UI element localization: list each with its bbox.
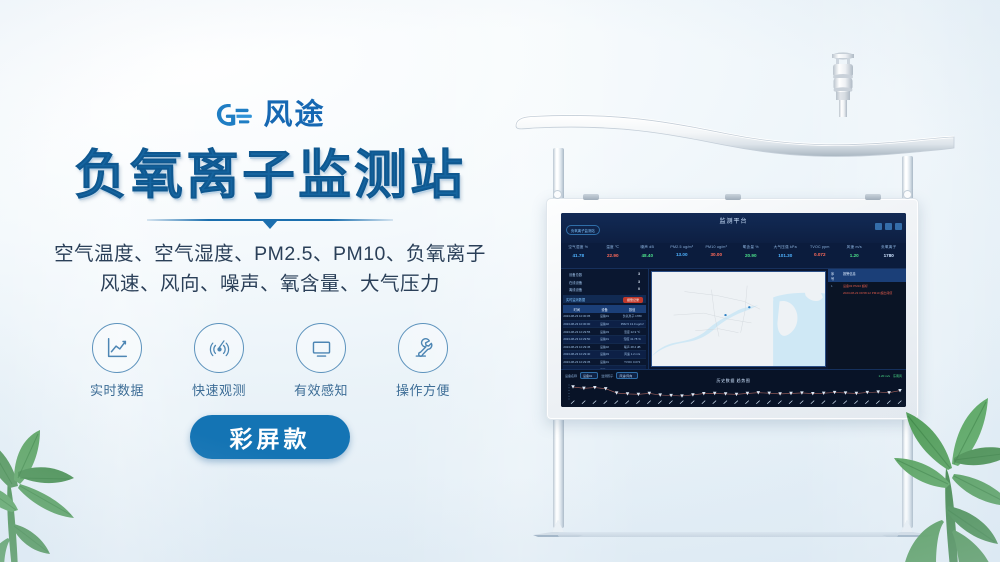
wrench-icon xyxy=(398,323,448,373)
divider-triangle-icon xyxy=(262,220,278,229)
kpi-value: 48.40 xyxy=(630,253,665,258)
device-stats-panel: 设备总数 3 在线设备 3 离线设备 0 实时监测数据 报警记录 xyxy=(561,269,649,369)
mount-ring-right xyxy=(903,190,912,199)
kpi-key: 温度 ℃ xyxy=(596,245,631,250)
kpi-tile: 氧含量 % 20.90 xyxy=(734,243,769,268)
table-cell: 设备03 xyxy=(591,351,619,358)
poster-canvas: 风途 负氧离子监测站 空气温度、空气湿度、PM2.5、PM10、负氧离子 风速、… xyxy=(0,0,1000,562)
kpi-key: 大气压强 kPa xyxy=(768,245,803,250)
monitor-icon xyxy=(296,323,346,373)
kpi-key: TVOC ppm xyxy=(803,245,838,249)
line-chart-icon xyxy=(92,323,142,373)
stat-row: 离线设备 0 xyxy=(563,286,646,293)
alarm-record-button[interactable]: 报警记录 xyxy=(623,297,643,303)
title-divider xyxy=(147,219,393,221)
kpi-key: PM10 ug/m³ xyxy=(699,245,734,249)
sun-icon xyxy=(875,223,882,230)
dashboard-title: 监测平台 xyxy=(561,216,906,225)
page-title: 负氧离子监测站 xyxy=(0,144,540,208)
ground-rail xyxy=(558,532,898,537)
table-row[interactable]: 2023-08-23 10:29:55设备03温度 22.9 ℃ xyxy=(563,328,646,336)
table-cell: 2023-08-23 10:29:55 xyxy=(563,328,591,335)
table-cell: 2023-08-23 10:30:05 xyxy=(563,313,591,320)
stat-key: 离线设备 xyxy=(569,287,582,292)
stat-key: 在线设备 xyxy=(569,280,582,285)
table-cell: 湿度 41.78 % xyxy=(618,336,646,343)
feature-label: 操作方便 xyxy=(385,380,461,399)
feature-item-fast-observation[interactable]: 快速观测 xyxy=(181,323,257,399)
table-header-row: 时间 设备 数值 xyxy=(563,305,646,313)
caption-text: 实时监测数据 xyxy=(566,298,585,302)
alarm-detail: 2023-08-23 09:58:12 PM10 超出阈值 xyxy=(840,289,895,296)
mount-lug-2 xyxy=(725,194,741,200)
subtitle: 空气温度、空气湿度、PM2.5、PM10、负氧离子 风速、风向、噪声、氧含量、大… xyxy=(0,239,540,299)
table-row[interactable]: 2023-08-23 10:29:45设备02噪声 48.4 dB xyxy=(563,344,646,352)
kpi-strip: 空气湿度 % 41.78 温度 ℃ 22.90 噪声 dB 48.40 PM2.… xyxy=(561,243,906,269)
cloud-icon xyxy=(885,223,892,230)
kpi-key: 噪声 dB xyxy=(630,245,665,250)
table-cell: 2023-08-23 10:29:40 xyxy=(563,351,591,358)
wind-trend-chart xyxy=(563,383,904,407)
column-header: 数值 xyxy=(618,305,646,313)
kpi-tile: 空气湿度 % 41.78 xyxy=(561,243,596,268)
mount-ring-left xyxy=(553,190,562,199)
table-cell: 2023-08-23 10:29:45 xyxy=(563,344,591,351)
table-cell: 设备02 xyxy=(591,321,619,328)
kpi-tile: PM2.5 ug/m³ 13.00 xyxy=(665,243,700,268)
table-row[interactable]: 2023-08-23 10:29:35设备01TVOC 0.072 xyxy=(563,359,646,367)
table-cell: 设备03 xyxy=(591,328,619,335)
kpi-tile: 风速 m/s 1.20 xyxy=(837,243,872,268)
kpi-key: 负氧离子 xyxy=(872,245,907,250)
realtime-table-caption: 实时监测数据 报警记录 xyxy=(563,295,646,303)
brand-name: 风途 xyxy=(263,100,325,130)
column-header: 设备 xyxy=(591,305,619,313)
kpi-key: 风速 m/s xyxy=(837,245,872,250)
alarm-row: 1 设备03 PM10 超标 xyxy=(828,282,906,289)
kpi-value: 20.90 xyxy=(734,253,769,258)
feature-label: 快速观测 xyxy=(181,380,257,399)
table-cell: 设备01 xyxy=(591,359,619,366)
radar-sensor-icon xyxy=(194,323,244,373)
brand-logo: 风途 xyxy=(0,96,540,134)
table-cell: TVOC 0.072 xyxy=(618,359,646,366)
column-header: 报警信息 xyxy=(840,269,859,282)
feature-item-effective-sensing[interactable]: 有效感知 xyxy=(283,323,359,399)
alarm-header-row: 序号 报警信息 xyxy=(828,269,906,282)
kpi-value: 30.00 xyxy=(699,252,734,257)
table-cell: 2023-08-23 10:29:50 xyxy=(563,336,591,343)
curved-canopy xyxy=(498,104,968,160)
kpi-tile: 噪声 dB 48.40 xyxy=(630,243,665,268)
table-cell: 2023-08-23 10:30:00 xyxy=(563,321,591,328)
table-cell: 设备01 xyxy=(591,336,619,343)
table-row[interactable]: 2023-08-23 10:29:40设备03风速 1.2 m/s xyxy=(563,351,646,359)
weather-widget xyxy=(875,223,902,230)
banana-leaf-plant-right xyxy=(854,370,1000,562)
kpi-value: 1.20 xyxy=(837,253,872,258)
table-cell: 温度 22.9 ℃ xyxy=(618,328,646,335)
table-cell: 设备02 xyxy=(591,344,619,351)
chart-type-label: 监测因子 xyxy=(601,374,613,378)
mount-lug-1 xyxy=(583,194,599,200)
subtitle-line-2: 风速、风向、噪声、氧含量、大气压力 xyxy=(0,269,540,299)
alarm-row-detail: 2023-08-23 09:58:12 PM10 超出阈值 xyxy=(828,289,906,296)
kpi-key: 空气湿度 % xyxy=(561,245,596,250)
table-cell: 负氧离子 1780 xyxy=(618,313,646,320)
chart-filter-label: 设备名称 xyxy=(565,374,577,378)
kpi-key: 氧含量 % xyxy=(734,245,769,250)
subtitle-line-1: 空气温度、空气湿度、PM2.5、PM10、负氧离子 xyxy=(0,239,540,269)
kpi-tile: TVOC ppm 0.072 xyxy=(803,243,838,268)
table-cell: PM2.5 13.0 ug/m³ xyxy=(618,321,646,328)
kpi-value: 1780 xyxy=(872,253,907,258)
stat-row: 在线设备 3 xyxy=(563,278,646,285)
kpi-value: 41.78 xyxy=(561,253,596,258)
table-row[interactable]: 2023-08-23 10:29:50设备01湿度 41.78 % xyxy=(563,336,646,344)
table-row[interactable]: 2023-08-23 10:30:05设备01负氧离子 1780 xyxy=(563,313,646,321)
alarm-text: 设备03 PM10 超标 xyxy=(840,282,871,289)
kpi-tile: PM10 ug/m³ 30.00 xyxy=(699,243,734,268)
dashboard-header: 监测平台 负氧离子监测站 xyxy=(561,213,906,243)
alarm-panel: 序号 报警信息 1 设备03 PM10 超标 2023-08-23 09:58:… xyxy=(828,269,906,369)
color-screen-model-button[interactable]: 彩屏款 xyxy=(190,415,350,459)
table-row[interactable]: 2023-08-23 10:30:00设备02PM2.5 13.0 ug/m³ xyxy=(563,321,646,329)
kpi-tile: 负氧离子 1780 xyxy=(872,243,907,268)
kpi-value: 22.90 xyxy=(596,253,631,258)
kpi-value: 13.00 xyxy=(665,252,700,257)
wind-icon xyxy=(895,223,902,230)
stat-value: 3 xyxy=(638,280,640,285)
feature-item-realtime-data[interactable]: 实时数据 xyxy=(79,323,155,399)
feature-label: 有效感知 xyxy=(283,380,359,399)
station-name-chip[interactable]: 负氧离子监测站 xyxy=(566,225,600,235)
kpi-value: 0.072 xyxy=(803,252,838,257)
kpi-key: PM2.5 ug/m³ xyxy=(665,245,700,249)
kpi-tile: 温度 ℃ 22.90 xyxy=(596,243,631,268)
table-cell: 设备01 xyxy=(591,313,619,320)
column-header: 序号 xyxy=(828,269,840,282)
china-map[interactable] xyxy=(651,271,826,367)
kpi-tile: 大气压强 kPa 101.30 xyxy=(768,243,803,268)
stat-row: 设备总数 3 xyxy=(563,271,646,278)
table-cell: 噪声 48.4 dB xyxy=(618,344,646,351)
alarm-index: 1 xyxy=(828,282,840,289)
stat-key: 设备总数 xyxy=(569,272,582,277)
feature-item-easy-operation[interactable]: 操作方便 xyxy=(385,323,461,399)
table-cell: 2023-08-23 10:29:35 xyxy=(563,359,591,366)
stat-value: 0 xyxy=(638,287,640,292)
mount-lug-3 xyxy=(865,194,881,200)
fengtu-wind-g-logo-icon xyxy=(214,100,254,130)
feature-list: 实时数据 快速观测 xyxy=(0,323,540,399)
column-header: 时间 xyxy=(563,305,591,313)
stat-value: 3 xyxy=(638,272,640,277)
dashboard-body: 设备总数 3 在线设备 3 离线设备 0 实时监测数据 报警记录 xyxy=(561,269,906,369)
kpi-value: 101.30 xyxy=(768,253,803,258)
table-cell: 风速 1.2 m/s xyxy=(618,351,646,358)
banana-leaf-plant-left xyxy=(0,392,148,562)
